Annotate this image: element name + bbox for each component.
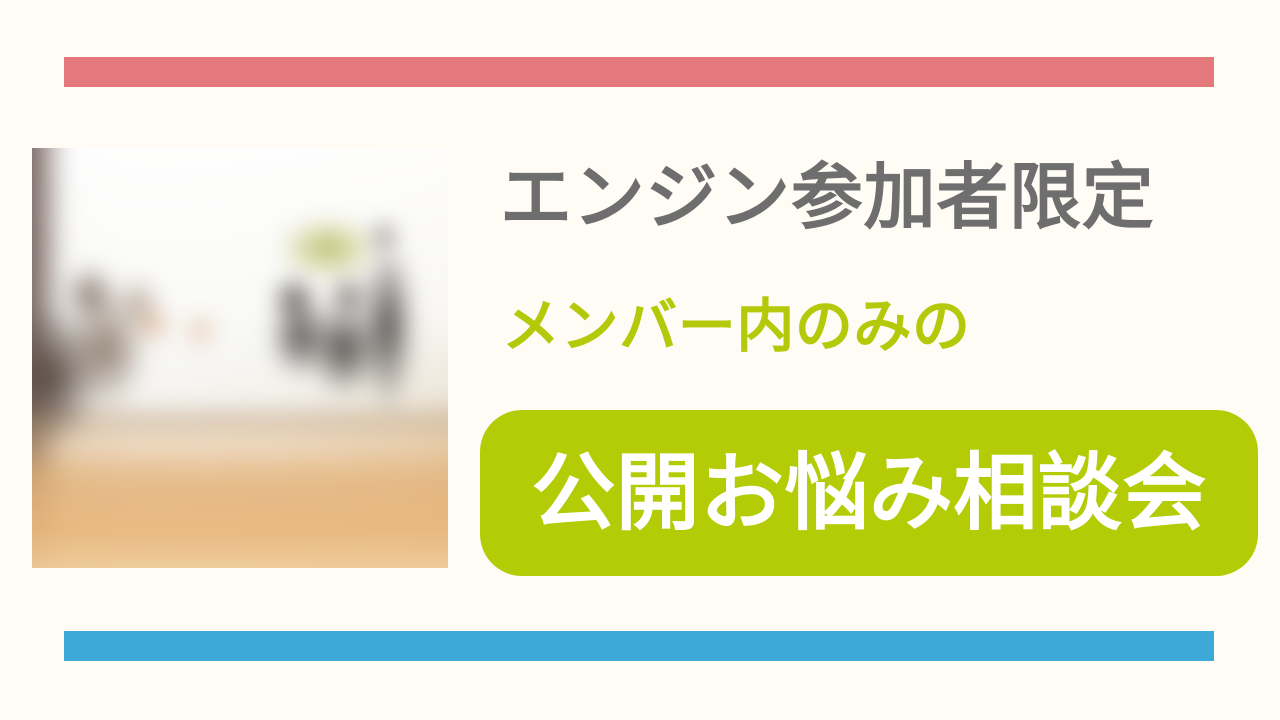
meeting-photo <box>32 148 448 568</box>
top-divider-bar <box>64 57 1214 87</box>
slide-canvas: エンジン参加者限定 メンバー内のみの 公開お悩み相談会 <box>0 0 1280 720</box>
bottom-divider-bar <box>64 631 1214 661</box>
subtitle: メンバー内のみの <box>502 298 971 356</box>
meeting-photo-image <box>32 148 448 568</box>
page-title: エンジン参加者限定 <box>500 162 1154 234</box>
status-badge-label: 公開お悩み相談会 <box>531 451 1206 535</box>
status-badge: 公開お悩み相談会 <box>480 410 1258 576</box>
